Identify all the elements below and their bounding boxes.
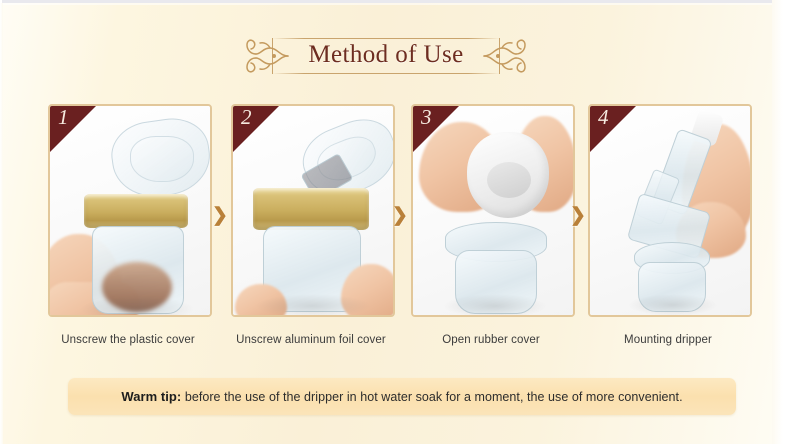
flourish-ornament-left-icon [244, 36, 290, 76]
step-caption-4: Mounting dripper [588, 334, 748, 346]
step-photo-3: 3 [411, 104, 575, 317]
step-caption-2: Unscrew aluminum foil cover [231, 334, 391, 346]
warm-tip-body: before the use of the dripper in hot wat… [181, 390, 682, 404]
title-frame-rule-bottom [272, 73, 499, 74]
title-frame-rule-top [272, 38, 499, 39]
warm-tip-banner: Warm tip: before the use of the dripper … [68, 378, 736, 415]
title-frame: Method of Use [244, 36, 527, 76]
flourish-ornament-right-icon [482, 36, 528, 76]
step-caption-1: Unscrew the plastic cover [48, 334, 208, 346]
step-item: 4 Mounting dripper [588, 104, 748, 346]
step-item: 1 Unscrew the plastic cover [48, 104, 208, 346]
step-badge-3 [413, 106, 459, 152]
step-arrow-icon: ❯ [392, 206, 408, 225]
warm-tip-lead: Warm tip: [121, 389, 181, 404]
promo-instruction-banner: Method of Use [0, 0, 790, 444]
step-number-1: 1 [58, 107, 69, 128]
step-caption-3: Open rubber cover [411, 334, 571, 346]
step-badge-4 [590, 106, 636, 152]
right-edge-highlight [772, 0, 790, 444]
step-item: 2 Unscrew aluminum foil cover [231, 104, 391, 346]
step-arrow-icon: ❯ [212, 206, 228, 225]
step-item: 3 Open rubber cover [411, 104, 571, 346]
step-photo-4: 4 [588, 104, 752, 317]
step-arrow-icon: ❯ [570, 206, 586, 225]
step-number-3: 3 [421, 107, 432, 128]
steps-row: 1 Unscrew the plastic cover 2 [0, 104, 772, 344]
page-title: Method of Use [298, 41, 473, 69]
title-section: Method of Use [0, 30, 772, 82]
step-photo-2: 2 [231, 104, 395, 317]
step-photo-1: 1 [48, 104, 212, 317]
step-number-4: 4 [598, 107, 609, 128]
step-badge-1 [50, 106, 96, 152]
step-badge-2 [233, 106, 279, 152]
step-number-2: 2 [241, 107, 252, 128]
warm-tip-text: Warm tip: before the use of the dripper … [121, 389, 682, 404]
